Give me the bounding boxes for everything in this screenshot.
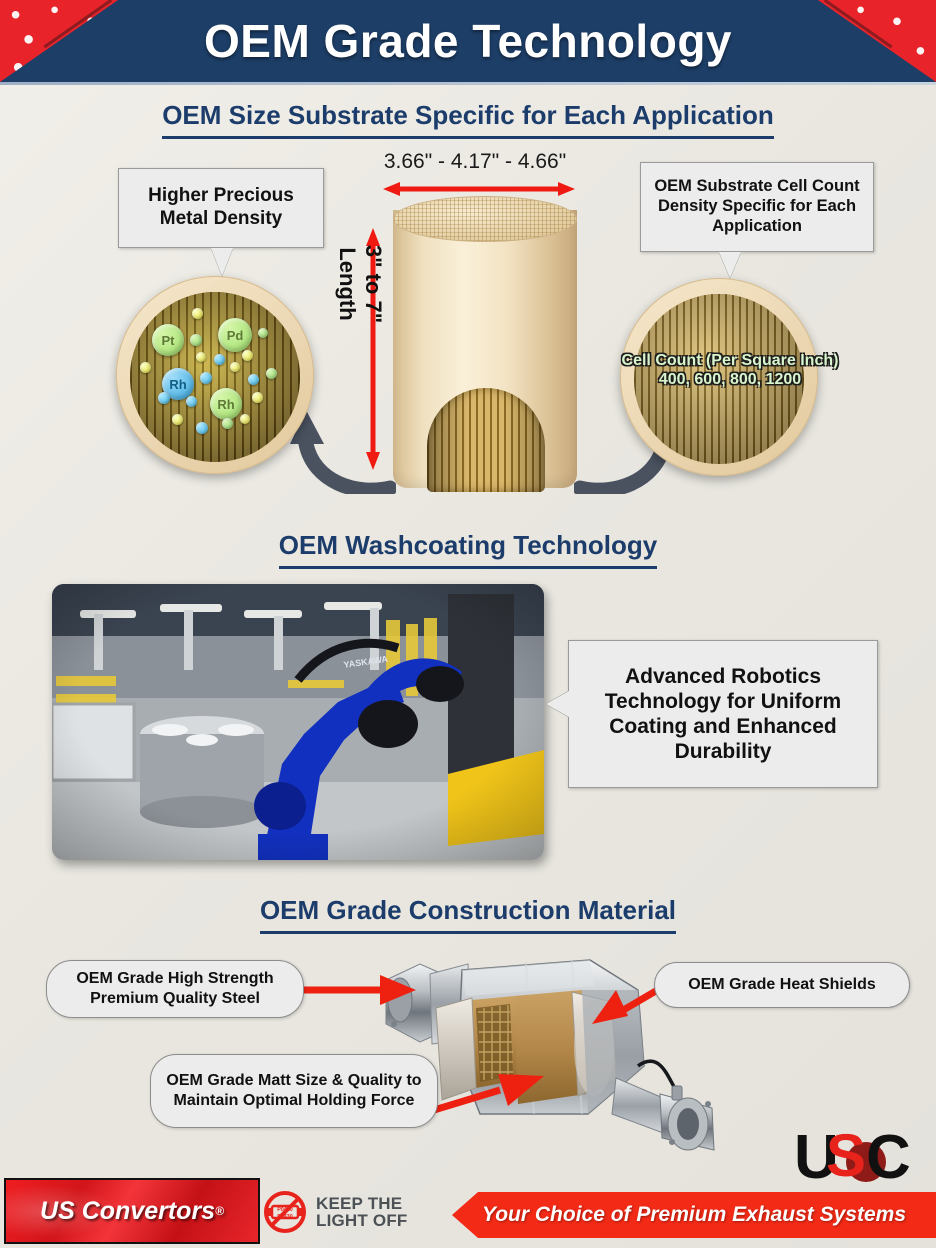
metal-dot: [222, 418, 233, 429]
callout-precious-metal-density-text: Higher Precious Metal Density: [125, 185, 317, 231]
metal-dot: [190, 334, 202, 346]
metal-dot: [196, 352, 206, 362]
section-heading-substrate: OEM Size Substrate Specific for Each App…: [0, 100, 936, 139]
callout-heat-shields-text: OEM Grade Heat Shields: [688, 975, 876, 995]
metal-bubble-rh-green: Rh: [210, 388, 242, 420]
magnified-metals-inner: Pt Pd Rh Rh: [130, 292, 300, 462]
brand-name: US Convertors: [40, 1197, 215, 1226]
page-title: OEM Grade Technology: [0, 0, 936, 82]
callout-high-strength-steel-text: OEM Grade High Strength Premium Quality …: [57, 969, 293, 1008]
magnified-substrate-metals: Pt Pd Rh Rh: [116, 276, 314, 474]
metal-dot: [172, 414, 183, 425]
metal-dot: [248, 374, 259, 385]
metal-dot: [230, 362, 240, 372]
page-header: OEM Grade Technology: [0, 0, 936, 82]
no-check-engine-light-icon: P0420 P0430: [262, 1189, 308, 1235]
callout-tail: [211, 248, 233, 276]
callout-high-strength-steel: OEM Grade High Strength Premium Quality …: [46, 960, 304, 1018]
photo-content: YASKAWA: [52, 584, 544, 860]
registered-mark: ®: [215, 1204, 224, 1218]
metal-dot: [252, 392, 263, 403]
callout-advanced-robotics-text: Advanced Robotics Technology for Uniform…: [579, 664, 867, 765]
metal-dot: [186, 396, 197, 407]
length-dimension-label: 3" to 7" Length: [334, 224, 386, 344]
us-convertors-logo-text: US Convertors®: [6, 1180, 258, 1242]
keep-line-1: KEEP THE: [316, 1195, 408, 1212]
robotics-factory-photo: YASKAWA: [52, 584, 544, 860]
section-heading-washcoating-text: OEM Washcoating Technology: [279, 530, 657, 569]
keep-the-light-off-text: KEEP THE LIGHT OFF: [316, 1195, 408, 1230]
callout-precious-metal-density: Higher Precious Metal Density: [118, 168, 324, 248]
metal-dot: [242, 350, 253, 361]
callout-tail: [719, 252, 741, 278]
diameter-arrow-icon: [383, 182, 575, 196]
metal-dot: [196, 422, 208, 434]
section-heading-construction: OEM Grade Construction Material: [0, 895, 936, 934]
metal-dot: [140, 362, 151, 373]
arrow-to-steel-icon: [300, 975, 416, 1005]
callout-advanced-robotics: Advanced Robotics Technology for Uniform…: [568, 640, 878, 788]
tagline-text: Your Choice of Premium Exhaust Systems: [482, 1203, 906, 1227]
callout-matt-size: OEM Grade Matt Size & Quality to Maintai…: [150, 1054, 438, 1128]
tagline-banner: Your Choice of Premium Exhaust Systems: [452, 1192, 936, 1238]
cell-count-label: Cell Count (Per Square Inch): [600, 352, 860, 371]
section-heading-washcoating: OEM Washcoating Technology: [0, 530, 936, 569]
usc-logo: U S C: [792, 1118, 926, 1188]
diameter-dimension-label: 3.66" - 4.17" - 4.66": [330, 150, 620, 174]
converter-outlet-pipe: [612, 1078, 714, 1150]
callout-heat-shields: OEM Grade Heat Shields: [654, 962, 910, 1008]
callout-matt-size-text: OEM Grade Matt Size & Quality to Maintai…: [161, 1071, 427, 1110]
keep-the-light-off-badge: P0420 P0430 KEEP THE LIGHT OFF: [262, 1186, 432, 1238]
cell-count-values: 400, 600, 800, 1200: [600, 371, 860, 390]
metal-dot: [258, 328, 268, 338]
metal-dot: [158, 392, 170, 404]
section-heading-substrate-text: OEM Size Substrate Specific for Each App…: [162, 100, 774, 139]
substrate-cylinder: [393, 196, 577, 492]
keep-line-2: LIGHT OFF: [316, 1212, 408, 1229]
metal-dot: [200, 372, 212, 384]
cylinder-honeycomb-top: [393, 196, 577, 242]
cell-count-overlay: Cell Count (Per Square Inch) 400, 600, 8…: [600, 352, 860, 390]
metal-dot: [240, 414, 250, 424]
cylinder-cutaway-honeycomb: [427, 388, 545, 492]
metal-bubble-pt: Pt: [152, 324, 184, 356]
usc-logo-c: C: [866, 1123, 911, 1188]
callout-cell-count-density-text: OEM Substrate Cell Count Density Specifi…: [649, 177, 865, 236]
metal-dot: [266, 368, 277, 379]
section-heading-construction-text: OEM Grade Construction Material: [260, 895, 676, 934]
us-convertors-logo[interactable]: US Convertors®: [4, 1178, 260, 1244]
metal-dot: [214, 354, 225, 365]
infographic-page: OEM Grade Technology OEM Size Substrate …: [0, 0, 936, 1248]
callout-tail: [546, 691, 569, 717]
header-rule: [0, 82, 936, 85]
metal-dot: [192, 308, 203, 319]
arrow-to-matt-icon: [434, 1066, 544, 1114]
metal-bubble-pd: Pd: [218, 318, 252, 352]
callout-cell-count-density: OEM Substrate Cell Count Density Specifi…: [640, 162, 874, 252]
usc-logo-s: S: [826, 1122, 866, 1188]
